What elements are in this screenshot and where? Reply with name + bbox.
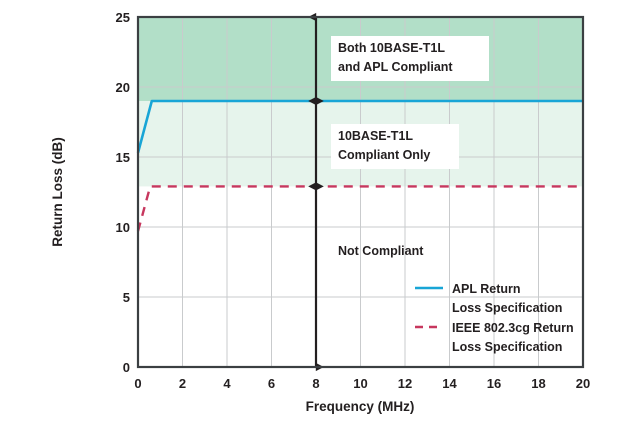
return-loss-chart: Both 10BASE-T1L and APL Compliant 10BASE… — [0, 0, 641, 426]
x-tick-label-8: 8 — [312, 376, 319, 391]
x-tick-label-16: 16 — [487, 376, 501, 391]
y-tick-label-25: 25 — [116, 10, 130, 25]
annotation-both-compliant-line2: and APL Compliant — [338, 60, 453, 74]
annotation-t1l-only-line1: 10BASE-T1L — [338, 129, 413, 143]
x-tick-label-20: 20 — [576, 376, 590, 391]
x-axis-ticks: 0 2 4 6 8 10 12 14 16 18 20 — [134, 376, 590, 391]
legend-label-apl-line1: APL Return — [452, 282, 521, 296]
x-axis-title: Frequency (MHz) — [306, 399, 415, 414]
y-axis-title: Return Loss (dB) — [50, 137, 65, 247]
annotation-t1l-only: 10BASE-T1L Compliant Only — [331, 124, 459, 169]
legend-label-apl-line2: Loss Specification — [452, 301, 562, 315]
y-axis-ticks: 25 20 15 10 5 0 — [116, 10, 130, 375]
x-tick-label-0: 0 — [134, 376, 141, 391]
y-tick-label-0: 0 — [123, 360, 130, 375]
annotation-not-compliant: Not Compliant — [338, 244, 424, 258]
x-tick-label-14: 14 — [442, 376, 457, 391]
annotation-both-compliant-line1: Both 10BASE-T1L — [338, 41, 445, 55]
x-tick-label-4: 4 — [223, 376, 231, 391]
y-tick-label-5: 5 — [123, 290, 130, 305]
y-tick-label-20: 20 — [116, 80, 130, 95]
x-tick-label-10: 10 — [353, 376, 367, 391]
y-tick-label-15: 15 — [116, 150, 130, 165]
annotation-t1l-only-line2: Compliant Only — [338, 148, 430, 162]
chart-container: Both 10BASE-T1L and APL Compliant 10BASE… — [0, 0, 641, 426]
x-tick-label-2: 2 — [179, 376, 186, 391]
x-tick-label-12: 12 — [398, 376, 412, 391]
y-tick-label-10: 10 — [116, 220, 130, 235]
legend-label-ieee-line1: IEEE 802.3cg Return — [452, 321, 574, 335]
x-tick-label-18: 18 — [531, 376, 545, 391]
legend-label-ieee-line2: Loss Specification — [452, 340, 562, 354]
annotation-both-compliant: Both 10BASE-T1L and APL Compliant — [331, 36, 489, 81]
x-tick-label-6: 6 — [268, 376, 275, 391]
